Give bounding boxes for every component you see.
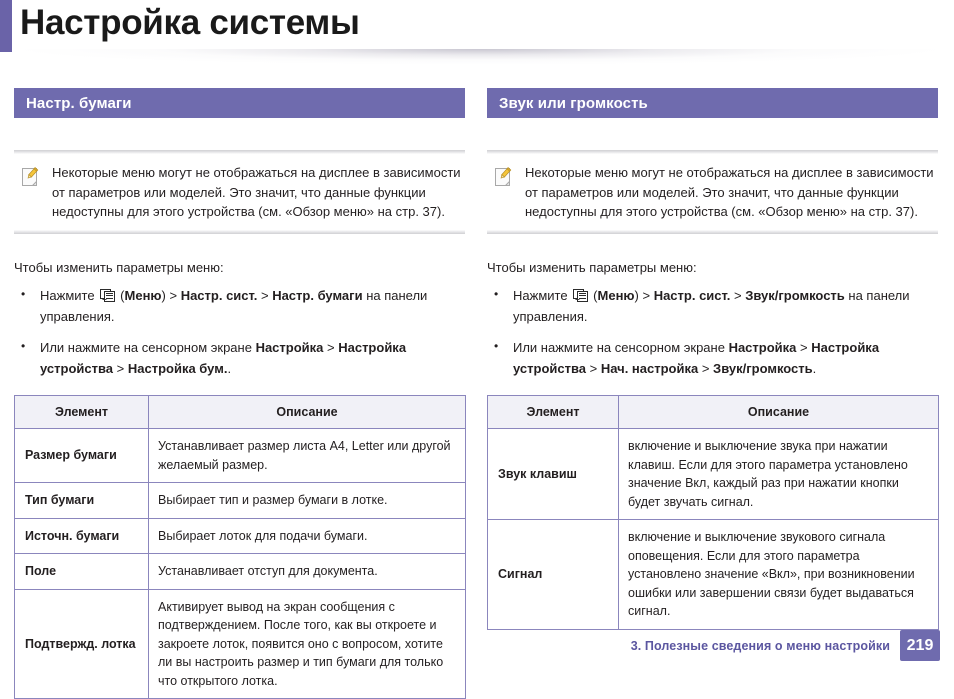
section-title-label: Настр. бумаги — [26, 95, 132, 112]
table-cell-description: Выбирает тип и размер бумаги в лотке. — [149, 483, 466, 519]
section-header-paper-settings: Настр. бумаги — [14, 88, 465, 118]
table-cell-description: включение и выключение звука при нажатии… — [619, 429, 939, 520]
note-pencil-icon — [493, 165, 515, 189]
table-cell-description: Устанавливает размер листа A4, Letter ил… — [149, 429, 466, 483]
page-title: Настройка системы — [20, 0, 360, 48]
table-cell-description: Активирует вывод на экран сообщения с по… — [149, 589, 466, 699]
step-prefix: Нажмите — [513, 288, 571, 303]
table-cell-description: Устанавливает отступ для документа. — [149, 554, 466, 590]
note-box-right: Некоторые меню могут не отображаться на … — [487, 140, 938, 244]
table-header-description: Описание — [149, 395, 466, 429]
table-cell-item: Звук клавиш — [488, 429, 619, 520]
table-cell-item: Сигнал — [488, 520, 619, 630]
table-header-item: Элемент — [15, 395, 149, 429]
page-number-badge: 219 — [900, 630, 940, 661]
section-title-label: Звук или громкость — [499, 95, 648, 112]
step-item: Нажмите +(Меню) > Настр. сист. > Настр. … — [14, 285, 465, 327]
table-cell-item: Тип бумаги — [15, 483, 149, 519]
sound-settings-table: Элемент Описание Звук клавиш включение и… — [487, 395, 939, 630]
step-body: Или нажмите на сенсорном экране Настройк… — [513, 340, 879, 376]
table-cell-item: Поле — [15, 554, 149, 590]
table-header-row: Элемент Описание — [15, 395, 466, 429]
menu-button-icon: + — [573, 289, 590, 303]
paper-settings-table: Элемент Описание Размер бумаги Устанавли… — [14, 395, 466, 699]
menu-button-icon: + — [100, 289, 117, 303]
footer-chapter-label: 3. Полезные сведения о меню настройки — [631, 639, 890, 653]
content-columns: Настр. бумаги Некоторые меню м — [0, 88, 954, 699]
table-header-item: Элемент — [488, 395, 619, 429]
table-cell-item: Размер бумаги — [15, 429, 149, 483]
step-prefix: Нажмите — [40, 288, 98, 303]
note-rule-bottom — [487, 230, 938, 234]
instructions-lead: Чтобы измeнить параметры меню: — [14, 258, 465, 277]
table-row: Поле Устанавливает отступ для документа. — [15, 554, 466, 590]
table-row: Тип бумаги Выбирает тип и размер бумаги … — [15, 483, 466, 519]
note-box-left: Некоторые меню могут не отображаться на … — [14, 140, 465, 244]
note-rule-bottom — [14, 230, 465, 234]
instruction-steps-right: Нажмите +(Меню) > Настр. сист. > Звук/гр… — [487, 285, 938, 379]
note-text: Некоторые меню могут не отображаться на … — [525, 163, 934, 222]
note-text: Некоторые меню могут не отображаться на … — [52, 163, 461, 222]
note-pencil-icon — [20, 165, 42, 189]
section-header-sound-volume: Звук или громкость — [487, 88, 938, 118]
title-shadow-divider — [12, 49, 948, 65]
instruction-steps-left: Нажмите +(Меню) > Настр. сист. > Настр. … — [14, 285, 465, 379]
table-header-row: Элемент Описание — [488, 395, 939, 429]
step-item: Или нажмите на сенсорном экране Настройк… — [14, 337, 465, 379]
table-cell-description: Выбирает лоток для подачи бумаги. — [149, 518, 466, 554]
instructions-lead: Чтобы изменить параметры меню: — [487, 258, 938, 277]
title-accent-bar — [0, 0, 12, 52]
table-header-description: Описание — [619, 395, 939, 429]
step-body: Или нажмите на сенсорном экране Настройк… — [40, 340, 406, 376]
step-item: Или нажмите на сенсорном экране Настройк… — [487, 337, 938, 379]
left-column: Настр. бумаги Некоторые меню м — [14, 88, 465, 699]
table-row: Подтвержд. лотка Активирует вывод на экр… — [15, 589, 466, 699]
page-footer: 3. Полезные сведения о меню настройки 21… — [631, 630, 940, 661]
right-column: Звук или громкость Некоторые м — [487, 88, 938, 699]
table-row: Источн. бумаги Выбирает лоток для подачи… — [15, 518, 466, 554]
table-row: Звук клавиш включение и выключение звука… — [488, 429, 939, 520]
table-cell-item: Подтвержд. лотка — [15, 589, 149, 699]
step-item: Нажмите +(Меню) > Настр. сист. > Звук/гр… — [487, 285, 938, 327]
table-cell-description: включение и выключение звукового сигнала… — [619, 520, 939, 630]
table-row: Размер бумаги Устанавливает размер листа… — [15, 429, 466, 483]
table-row: Сигнал включение и выключение звукового … — [488, 520, 939, 630]
page-title-zone: Настройка системы — [0, 0, 954, 68]
table-cell-item: Источн. бумаги — [15, 518, 149, 554]
